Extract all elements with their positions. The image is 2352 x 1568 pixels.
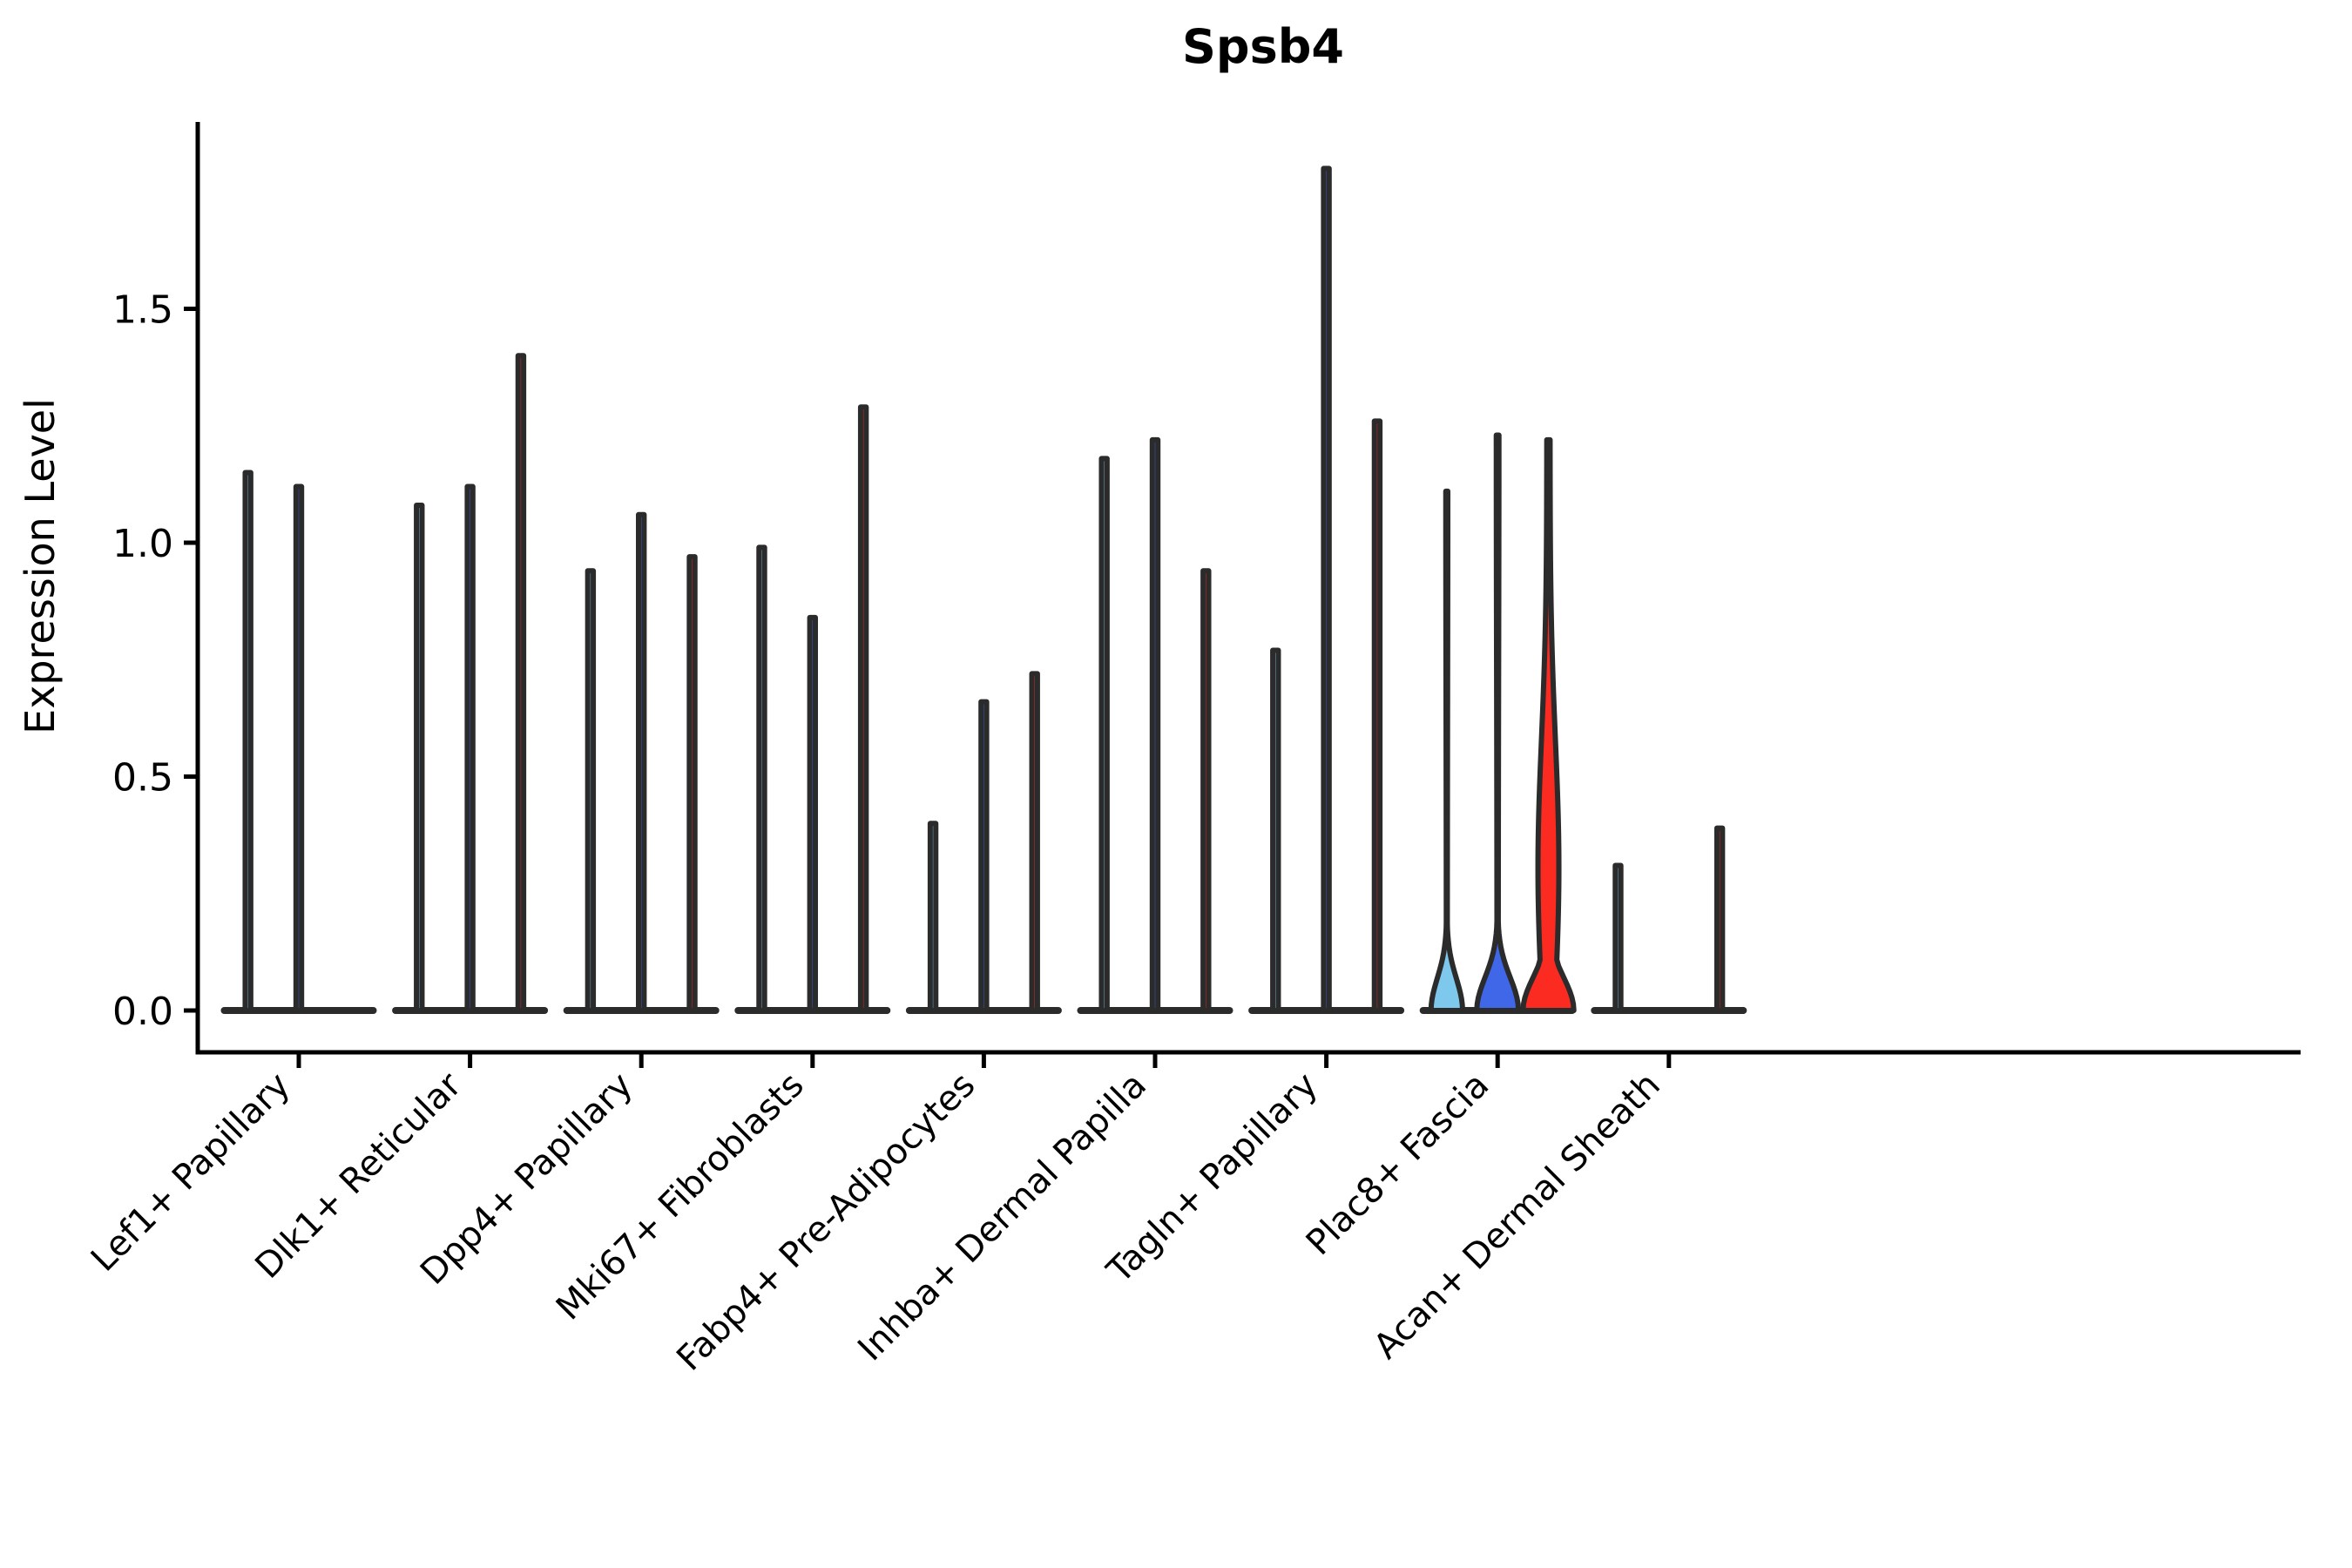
- violin-1-0: [416, 505, 422, 1010]
- x-tick-label-7: Plac8+ Fascia: [1299, 1065, 1497, 1264]
- y-tick-label: 1.0: [112, 522, 173, 566]
- violin-7-2: [1523, 440, 1573, 1010]
- y-tick-label: 0.0: [112, 990, 173, 1034]
- axis-spines: [198, 122, 2301, 1052]
- violin-3-0: [759, 547, 764, 1010]
- violin-3-1: [810, 618, 815, 1010]
- violin-5-2: [1203, 571, 1208, 1010]
- violin-3-2: [861, 407, 866, 1010]
- violin-2-0: [588, 571, 593, 1010]
- violin-4-2: [1032, 673, 1037, 1010]
- violin-6-0: [1273, 651, 1278, 1010]
- violin-layer: [225, 168, 1744, 1010]
- violin-6-2: [1375, 421, 1380, 1010]
- violin-4-0: [930, 823, 936, 1010]
- x-tick-label-8: Acan+ Dermal Sheath: [1366, 1065, 1668, 1368]
- plot-canvas: Spsb4 Expression Level 0.00.51.01.5 Lef1…: [0, 0, 2352, 1568]
- violin-0-0: [245, 472, 250, 1010]
- x-tick-label-4: Fabp4+ Pre-Adipocytes: [669, 1065, 983, 1379]
- violin-1-1: [467, 487, 472, 1010]
- violin-4-1: [981, 702, 986, 1010]
- page-title: Spsb4: [1182, 19, 1344, 74]
- violin-5-1: [1152, 440, 1158, 1010]
- x-tick-label-5: Inhba+ Dermal Papilla: [850, 1065, 1154, 1369]
- y-tick-label: 0.5: [112, 756, 173, 801]
- y-tick-label: 1.5: [112, 288, 173, 333]
- violin-1-2: [518, 355, 524, 1010]
- violin-8-2: [1717, 828, 1722, 1010]
- violin-8-0: [1615, 866, 1620, 1010]
- violin-2-1: [639, 515, 644, 1010]
- violin-7-1: [1477, 435, 1518, 1010]
- violin-plot-figure: Spsb4 Expression Level 0.00.51.01.5 Lef1…: [0, 0, 2352, 1568]
- violin-7-0: [1431, 491, 1463, 1010]
- violin-6-1: [1323, 168, 1328, 1010]
- violin-0-1: [296, 487, 301, 1010]
- y-axis-label: Expression Level: [17, 398, 64, 734]
- x-tick-labels: Lef1+ PapillaryDlk1+ ReticularDpp4+ Papi…: [84, 1064, 1668, 1379]
- violin-2-2: [689, 557, 694, 1010]
- violin-5-0: [1101, 458, 1106, 1010]
